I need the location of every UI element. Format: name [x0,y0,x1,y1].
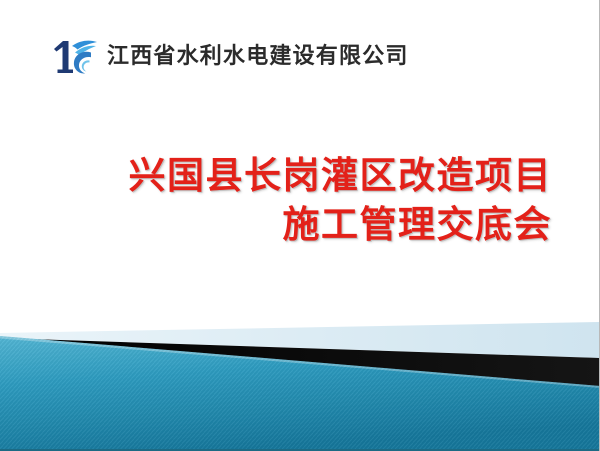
slide-title-line-1: 兴国县长岗灌区改造项目 [60,152,552,201]
slide-title: 兴国县长岗灌区改造项目 施工管理交底会 [60,152,552,250]
presentation-title-slide: 江西省水利水电建设有限公司 兴国县长岗灌区改造项目 施工管理交底会 [0,0,600,451]
slide-title-line-2: 施工管理交底会 [60,201,552,250]
company-logo-lockup: 江西省水利水电建设有限公司 [50,36,409,78]
company-logo-mark [50,36,98,78]
angles-banner-decoration [0,311,600,451]
company-name: 江西省水利水电建设有限公司 [107,46,409,68]
